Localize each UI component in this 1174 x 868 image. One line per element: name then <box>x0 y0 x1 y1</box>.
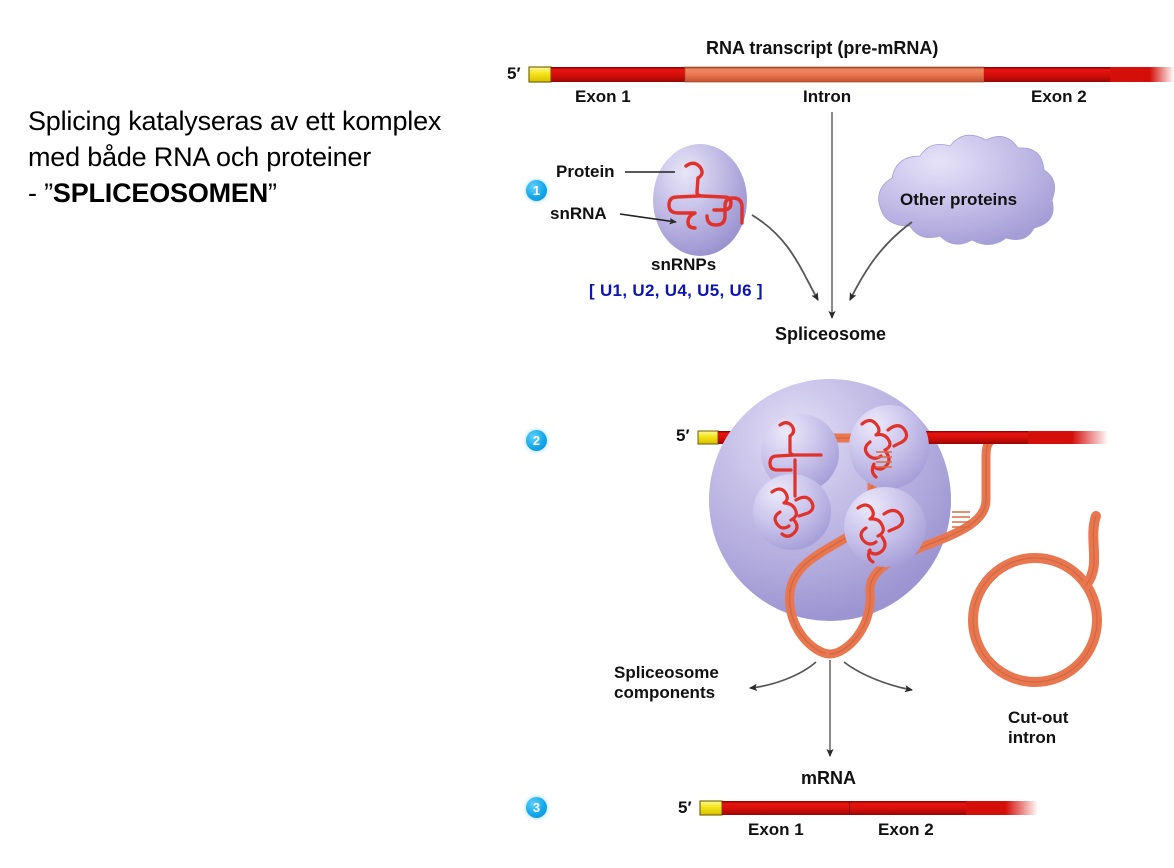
mrna-exon1-label: Exon 1 <box>748 820 804 840</box>
other-proteins-to-spliceosome-arrow <box>850 222 912 300</box>
five-prime-cap-top <box>529 67 551 82</box>
exon1-segment-top <box>551 67 685 82</box>
lariat-circle <box>973 558 1097 682</box>
protein-label: Protein <box>556 162 615 182</box>
snrnp-particle <box>653 144 747 256</box>
spliceosome-components-line1: Spliceosome <box>614 663 719 682</box>
pre-mrna-transcript-bar <box>529 67 1174 82</box>
spliceosome-components-arrow <box>750 662 816 688</box>
exon1-label-top: Exon 1 <box>575 87 631 107</box>
mrna-label: mRNA <box>801 768 856 789</box>
slide-caption: Splicing katalyseras av ett komplex med … <box>28 104 498 212</box>
caption-line-1: Splicing katalyseras av ett komplex <box>28 104 498 140</box>
snrnp-body <box>653 144 747 256</box>
step-number-1: 1 <box>526 180 547 201</box>
exon2-rail-step2 <box>912 431 1030 444</box>
step2-exon2-rail <box>912 431 1108 444</box>
exon2-label-top: Exon 2 <box>1031 87 1087 107</box>
cutout-intron-line1: Cut-out <box>1008 708 1068 727</box>
caption-term-spliceosomen: SPLICEOSOMEN <box>53 178 268 208</box>
cutout-intron-label: Cut-outintron <box>1008 708 1118 748</box>
caption-line-3-suffix: ” <box>268 178 277 208</box>
mature-mrna-bar <box>700 801 1038 815</box>
exon2-rail-fade-step2 <box>1028 431 1108 444</box>
splicing-diagram: RNA transcript (pre-mRNA) 5′ Exon 1 Intr… <box>500 0 1174 868</box>
intron-segment-top <box>685 67 984 82</box>
five-prime-label-top: 5′ <box>507 64 521 84</box>
spliceosome-components-label: Spliceosomecomponents <box>614 663 749 703</box>
caption-line-3-prefix: - ” <box>28 178 53 208</box>
snrna-label: snRNA <box>550 204 607 224</box>
cutout-intron-arrow <box>844 662 912 690</box>
five-prime-cap-mrna <box>700 801 722 815</box>
cutout-intron-line2: intron <box>1008 728 1056 747</box>
exon2-fade-top <box>1110 67 1174 82</box>
mrna-exon2-label: Exon 2 <box>878 820 934 840</box>
snrnps-label: snRNPs <box>651 255 716 275</box>
mrna-exon2-segment <box>850 801 968 815</box>
caption-line-3: - ”SPLICEOSOMEN” <box>28 176 498 212</box>
five-prime-label-step2: 5′ <box>676 426 690 446</box>
internal-snrnp-4 <box>844 487 926 567</box>
exon2-segment-top <box>984 67 1114 82</box>
spliceosome-components-line2: components <box>614 683 715 702</box>
cutout-intron-lariat <box>973 516 1097 682</box>
mrna-exon1-segment <box>722 801 850 815</box>
caption-line-2: med både RNA och proteiner <box>28 140 498 176</box>
five-prime-cap-step2 <box>698 431 718 444</box>
other-proteins-label: Other proteins <box>900 190 1017 210</box>
five-prime-label-mrna: 5′ <box>678 798 692 818</box>
step-number-3: 3 <box>526 797 547 818</box>
lariat-tail <box>1086 516 1096 585</box>
transcript-title: RNA transcript (pre-mRNA) <box>706 38 938 59</box>
snrnp-u-list: [ U1, U2, U4, U5, U6 ] <box>589 281 763 301</box>
intron-label-top: Intron <box>803 87 851 107</box>
mrna-fade-segment <box>966 801 1038 815</box>
step-number-2: 2 <box>526 430 547 451</box>
internal-snrnp-3 <box>753 474 831 550</box>
spliceosome-label: Spliceosome <box>775 324 886 345</box>
